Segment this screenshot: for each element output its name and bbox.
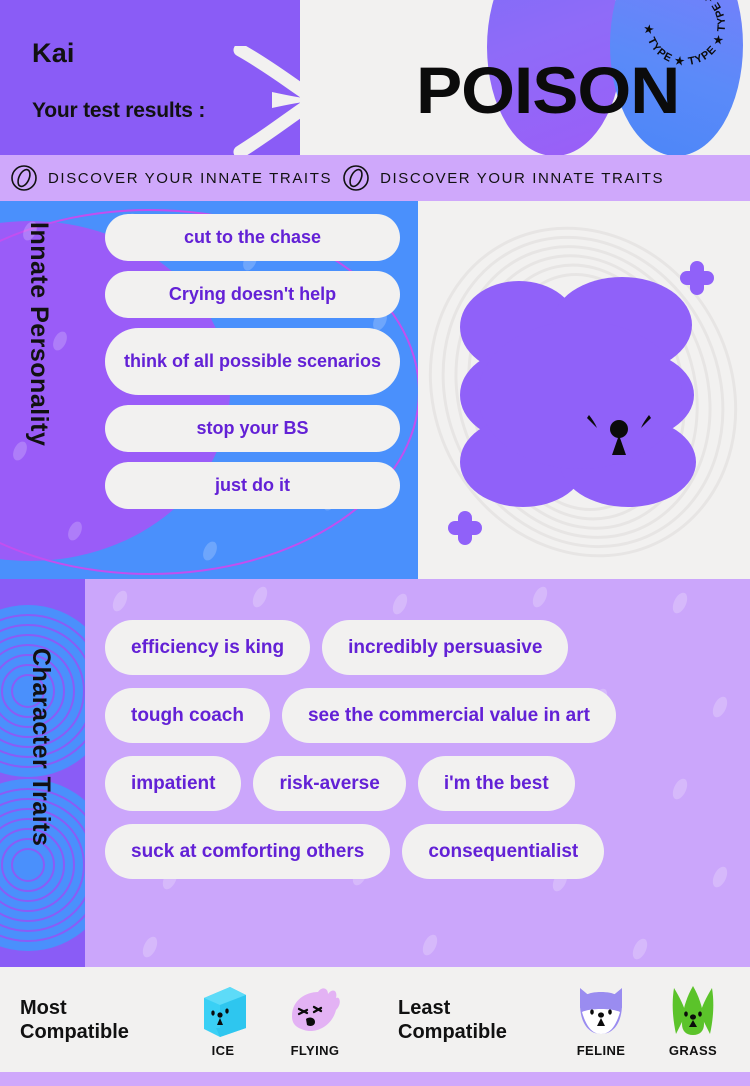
most-compatible-label: MostCompatible — [20, 996, 150, 1044]
sparkle-plus-icon — [448, 511, 482, 545]
innate-pill[interactable]: Crying doesn't help — [105, 271, 400, 318]
innate-pill[interactable]: just do it — [105, 462, 400, 509]
discover-traits-marquee: DISCOVER YOUR INNATE TRAITS DISCOVER YOU… — [0, 155, 750, 201]
compat-item-name: ICE — [212, 1043, 235, 1058]
trait-pill[interactable]: suck at comforting others — [105, 824, 390, 879]
trait-pill[interactable]: impatient — [105, 756, 241, 811]
compat-item-name: FELINE — [577, 1043, 626, 1058]
mascot-section — [418, 201, 750, 579]
traits-row: impatient risk-averse i'm the best — [105, 756, 735, 811]
compat-item-name: GRASS — [669, 1043, 717, 1058]
grass-blade-icon — [664, 982, 722, 1040]
innate-pill[interactable]: stop your BS — [105, 405, 400, 452]
most-compatible-card: MostCompatible — [0, 967, 372, 1072]
leaf-circle-icon — [342, 164, 370, 192]
compat-item[interactable]: ICE — [184, 982, 262, 1058]
trait-pill[interactable]: incredibly persuasive — [322, 620, 568, 675]
innate-personality-label: Innate Personality — [24, 222, 53, 446]
user-name: Kai — [32, 38, 75, 69]
ice-cube-icon — [194, 982, 252, 1040]
mascot-face-icon — [584, 411, 654, 461]
innate-pill[interactable]: cut to the chase — [105, 214, 400, 261]
trait-pill[interactable]: efficiency is king — [105, 620, 310, 675]
sparkle-plus-icon — [680, 261, 714, 295]
compat-item[interactable]: GRASS — [654, 982, 732, 1058]
trait-pill[interactable]: tough coach — [105, 688, 270, 743]
compat-item[interactable]: FLYING — [276, 982, 354, 1058]
traits-row: suck at comforting others consequentiali… — [105, 824, 735, 879]
innate-pill-list: cut to the chase Crying doesn't help thi… — [105, 214, 400, 509]
cat-face-icon — [572, 982, 630, 1040]
compatibility-bar: MostCompatible — [0, 967, 750, 1072]
character-traits-label: Character Traits — [26, 648, 55, 846]
header-subtitle: Your test results : — [32, 99, 205, 123]
poison-blob-mascot — [460, 271, 700, 506]
result-type-title: POISON — [416, 52, 679, 128]
trait-pill[interactable]: see the commercial value in art — [282, 688, 616, 743]
trait-pill[interactable]: risk-averse — [253, 756, 405, 811]
flying-wing-icon — [286, 982, 344, 1040]
least-compatible-items: FELINE GRASS — [562, 982, 732, 1058]
compat-item-name: FLYING — [291, 1043, 340, 1058]
header: Kai Your test results : ★ TYPE ★ TYPE ★ … — [0, 0, 750, 155]
least-compatible-label: LeastCompatible — [398, 996, 528, 1044]
trait-pill[interactable]: consequentialist — [402, 824, 604, 879]
bottom-strip — [0, 1072, 750, 1086]
least-compatible-card: LeastCompatible — [378, 967, 750, 1072]
trait-pill[interactable]: i'm the best — [418, 756, 575, 811]
compat-item[interactable]: FELINE — [562, 982, 640, 1058]
innate-pill[interactable]: think of all possible scenarios — [105, 328, 400, 395]
marquee-item: DISCOVER YOUR INNATE TRAITS — [0, 164, 332, 192]
leaf-circle-icon — [10, 164, 38, 192]
marquee-label: DISCOVER YOUR INNATE TRAITS — [48, 170, 332, 187]
poison-result-card: Kai Your test results : ★ TYPE ★ TYPE ★ … — [0, 0, 750, 1086]
character-traits-list: efficiency is king incredibly persuasive… — [105, 620, 735, 879]
most-compatible-items: ICE FLYING — [184, 982, 354, 1058]
swoosh-arrow-icon — [232, 46, 322, 155]
traits-row: tough coach see the commercial value in … — [105, 688, 735, 743]
marquee-label: DISCOVER YOUR INNATE TRAITS — [380, 170, 664, 187]
marquee-item: DISCOVER YOUR INNATE TRAITS — [332, 164, 664, 192]
traits-row: efficiency is king incredibly persuasive — [105, 620, 735, 675]
